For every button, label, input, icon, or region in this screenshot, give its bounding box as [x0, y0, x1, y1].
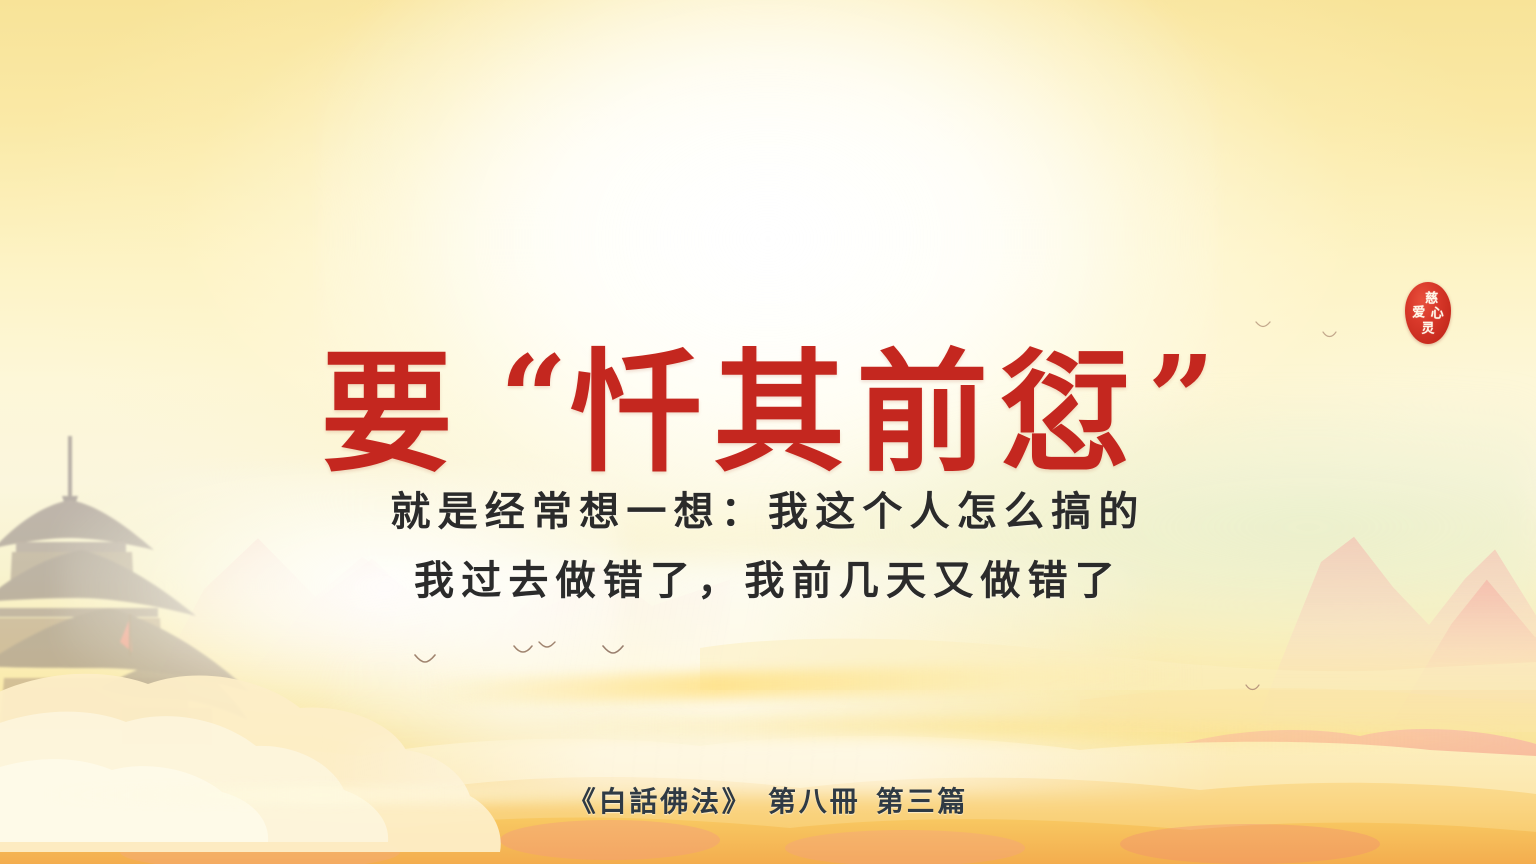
seal-char-bottom: 灵: [1421, 322, 1434, 335]
seal-char-top: 慈: [1425, 292, 1438, 305]
page-title: 要“忏其前愆”: [0, 340, 1536, 480]
footer-chapter: 第三篇: [876, 785, 968, 818]
light-ray-1: [420, 660, 1200, 705]
bird-icon: [513, 645, 533, 654]
subtitle-line-1: 就是经常想一想：我这个人怎么搞的: [0, 478, 1536, 547]
seal-characters: 慈 爱 心 灵: [1405, 282, 1451, 344]
footer-book-title: 《白話佛法》: [568, 785, 753, 818]
slide-canvas: 要“忏其前愆” 慈 爱 心 灵 就是经常想一想：我这个人怎么搞的 我过去做错了，…: [0, 0, 1536, 864]
golden-clouds: [0, 604, 1536, 864]
headline-quote-open: “: [500, 329, 568, 468]
seal-char-left: 爱: [1412, 307, 1425, 320]
bird-icon: [414, 654, 436, 664]
seal-stamp: 慈 爱 心 灵: [1405, 282, 1451, 344]
subtitle-line-2: 我过去做错了，我前几天又做错了: [0, 547, 1536, 616]
headline-phrase: 忏其前愆: [570, 336, 1143, 491]
subtitle-block: 就是经常想一想：我这个人怎么搞的 我过去做错了，我前几天又做错了: [0, 478, 1536, 616]
seal-char-right: 心: [1431, 308, 1444, 321]
footer-volume: 第八冊: [768, 785, 860, 818]
bird-icon: [1322, 331, 1337, 338]
bird-icon: [1245, 684, 1260, 691]
source-attribution: 《白話佛法》第八冊第三篇: [0, 780, 1536, 820]
headline-quote-close: ”: [1147, 329, 1215, 468]
headline-lead: 要: [321, 336, 460, 491]
bird-icon: [538, 641, 556, 649]
bird-icon: [602, 645, 624, 655]
light-ray-2: [560, 715, 1520, 750]
bird-icon: [1255, 321, 1271, 328]
